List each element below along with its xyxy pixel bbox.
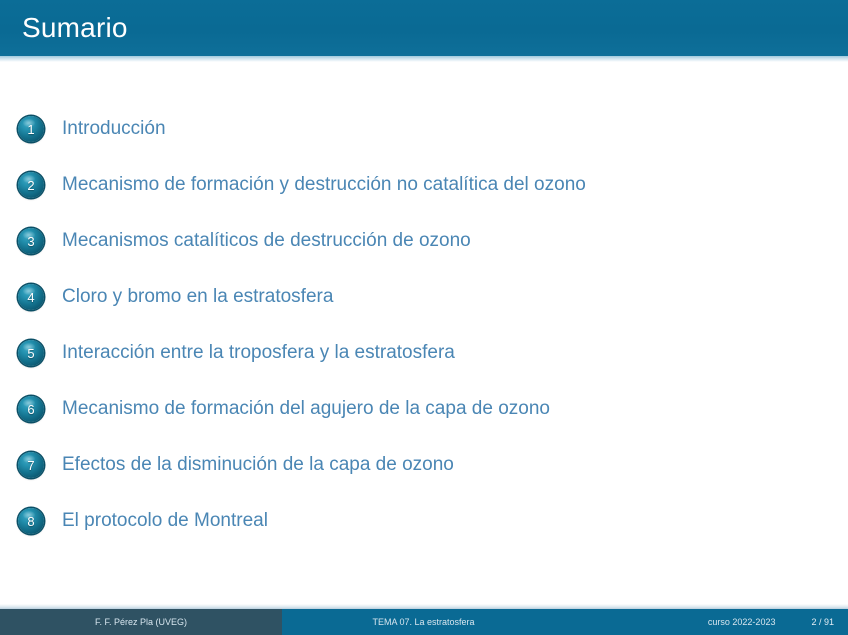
table-of-contents-list: 1 Introducción 2 Mecanismo de formación …: [0, 101, 848, 549]
toc-item-number: 6: [27, 403, 34, 416]
toc-item-label: El protocolo de Montreal: [62, 509, 268, 533]
toc-item-label: Cloro y bromo en la estratosfera: [62, 285, 333, 309]
toc-item-number: 4: [27, 291, 34, 304]
footer-course: curso 2022-2023: [708, 617, 776, 627]
numbered-bullet-icon: 5: [18, 340, 44, 366]
page-title: Sumario: [22, 12, 128, 44]
toc-item-7[interactable]: 7 Efectos de la disminución de la capa d…: [0, 437, 848, 493]
footer-meta: curso 2022-2023 2 / 91: [565, 609, 848, 635]
numbered-bullet-icon: 1: [18, 116, 44, 142]
toc-item-number: 1: [27, 123, 34, 136]
footer-author: F. F. Pérez Pla (UVEG): [0, 609, 282, 635]
toc-item-3[interactable]: 3 Mecanismos catalíticos de destrucción …: [0, 213, 848, 269]
toc-item-label: Introducción: [62, 117, 166, 141]
toc-item-number: 5: [27, 347, 34, 360]
toc-item-label: Mecanismo de formación y destrucción no …: [62, 173, 586, 197]
toc-item-label: Interacción entre la troposfera y la est…: [62, 341, 455, 365]
slide-header: Sumario: [0, 0, 848, 56]
numbered-bullet-icon: 7: [18, 452, 44, 478]
toc-item-5[interactable]: 5 Interacción entre la troposfera y la e…: [0, 325, 848, 381]
slide-footer: F. F. Pérez Pla (UVEG) TEMA 07. La estra…: [0, 609, 848, 635]
toc-item-number: 8: [27, 515, 34, 528]
footer-subject: TEMA 07. La estratosfera: [282, 609, 565, 635]
toc-item-1[interactable]: 1 Introducción: [0, 101, 848, 157]
toc-item-2[interactable]: 2 Mecanismo de formación y destrucción n…: [0, 157, 848, 213]
toc-item-4[interactable]: 4 Cloro y bromo en la estratosfera: [0, 269, 848, 325]
toc-item-6[interactable]: 6 Mecanismo de formación del agujero de …: [0, 381, 848, 437]
toc-item-number: 2: [27, 179, 34, 192]
header-separator-rule: [0, 56, 848, 62]
numbered-bullet-icon: 3: [18, 228, 44, 254]
numbered-bullet-icon: 6: [18, 396, 44, 422]
toc-item-label: Mecanismo de formación del agujero de la…: [62, 397, 550, 421]
footer-page-number: 2 / 91: [811, 617, 834, 627]
toc-item-number: 7: [27, 459, 34, 472]
toc-item-label: Mecanismos catalíticos de destrucción de…: [62, 229, 471, 253]
toc-item-label: Efectos de la disminución de la capa de …: [62, 453, 454, 477]
toc-item-8[interactable]: 8 El protocolo de Montreal: [0, 493, 848, 549]
numbered-bullet-icon: 4: [18, 284, 44, 310]
numbered-bullet-icon: 2: [18, 172, 44, 198]
numbered-bullet-icon: 8: [18, 508, 44, 534]
toc-item-number: 3: [27, 235, 34, 248]
